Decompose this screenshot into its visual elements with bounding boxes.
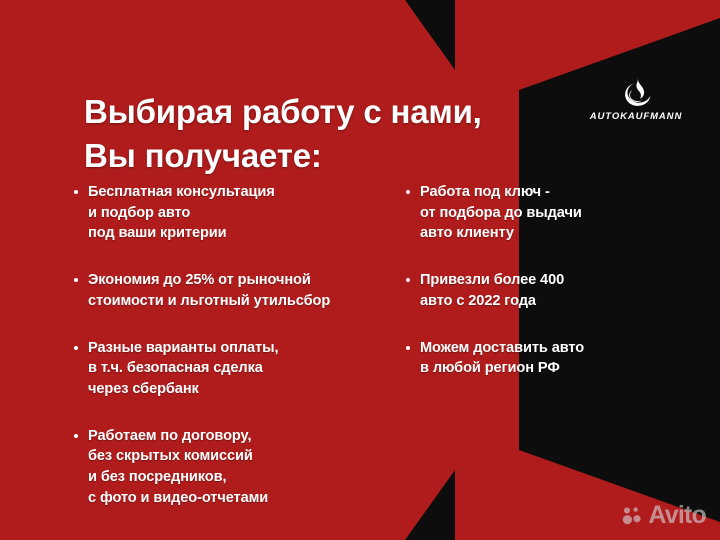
bullet-dot-icon xyxy=(74,278,78,282)
page-title: Выбирая работу с нами, Вы получаете: xyxy=(84,90,554,177)
benefit-line: Экономия до 25% от рыночной xyxy=(88,270,402,291)
brand-logo: AUTOKAUFMANN xyxy=(588,74,684,122)
avito-watermark: Avito xyxy=(621,503,706,528)
benefit-item: Можем доставить авто в любой регион РФ xyxy=(404,338,694,379)
benefit-item: Разные варианты оплаты, в т.ч. безопасна… xyxy=(72,338,402,400)
benefit-line: под ваши критерии xyxy=(88,223,402,244)
avito-label: Avito xyxy=(648,503,706,528)
benefit-line: Работаем по договору, xyxy=(88,426,402,447)
benefit-item: Работа под ключ - от подбора до выдачи а… xyxy=(404,182,694,244)
benefits-right-column: Работа под ключ - от подбора до выдачи а… xyxy=(404,182,694,379)
bullet-dot-icon xyxy=(74,434,78,438)
bullet-dot-icon xyxy=(74,346,78,350)
headline-line-2: Вы получаете: xyxy=(84,134,554,178)
avito-dots-icon xyxy=(621,505,643,527)
bullet-dot-icon xyxy=(406,190,410,194)
benefit-line: без скрытых комиссий xyxy=(88,446,402,467)
bullet-dot-icon xyxy=(406,278,410,282)
bullet-dot-icon xyxy=(74,190,78,194)
benefit-item: Работаем по договору, без скрытых комисс… xyxy=(72,426,402,509)
benefit-line: Разные варианты оплаты, xyxy=(88,338,402,359)
benefit-line: Работа под ключ - xyxy=(420,182,694,203)
logo-wordmark: AUTOKAUFMANN xyxy=(588,111,684,122)
promo-banner: Выбирая работу с нами, Вы получаете: AUT… xyxy=(0,0,720,540)
benefit-line: в любой регион РФ xyxy=(420,358,694,379)
benefit-item: Привезли более 400 авто с 2022 года xyxy=(404,270,694,311)
benefit-line: Можем доставить авто xyxy=(420,338,694,359)
benefits-left-column: Бесплатная консультация и подбор авто по… xyxy=(72,182,402,509)
benefit-line: с фото и видео-отчетами xyxy=(88,488,402,509)
benefit-line: авто клиенту xyxy=(420,223,694,244)
benefit-line: стоимости и льготный утильсбор xyxy=(88,291,402,312)
benefit-line: Привезли более 400 xyxy=(420,270,694,291)
benefit-line: и подбор авто xyxy=(88,203,402,224)
benefit-line: Бесплатная консультация xyxy=(88,182,402,203)
headline-line-1: Выбирая работу с нами, xyxy=(84,93,482,130)
benefit-line: авто с 2022 года xyxy=(420,291,694,312)
bullet-dot-icon xyxy=(406,346,410,350)
benefit-line: в т.ч. безопасная сделка xyxy=(88,358,402,379)
benefit-item: Экономия до 25% от рыночной стоимости и … xyxy=(72,270,402,311)
benefit-item: Бесплатная консультация и подбор авто по… xyxy=(72,182,402,244)
benefit-line: от подбора до выдачи xyxy=(420,203,694,224)
benefit-line: и без посредников, xyxy=(88,467,402,488)
flame-swoosh-icon xyxy=(619,74,653,108)
benefit-line: через сбербанк xyxy=(88,379,402,400)
